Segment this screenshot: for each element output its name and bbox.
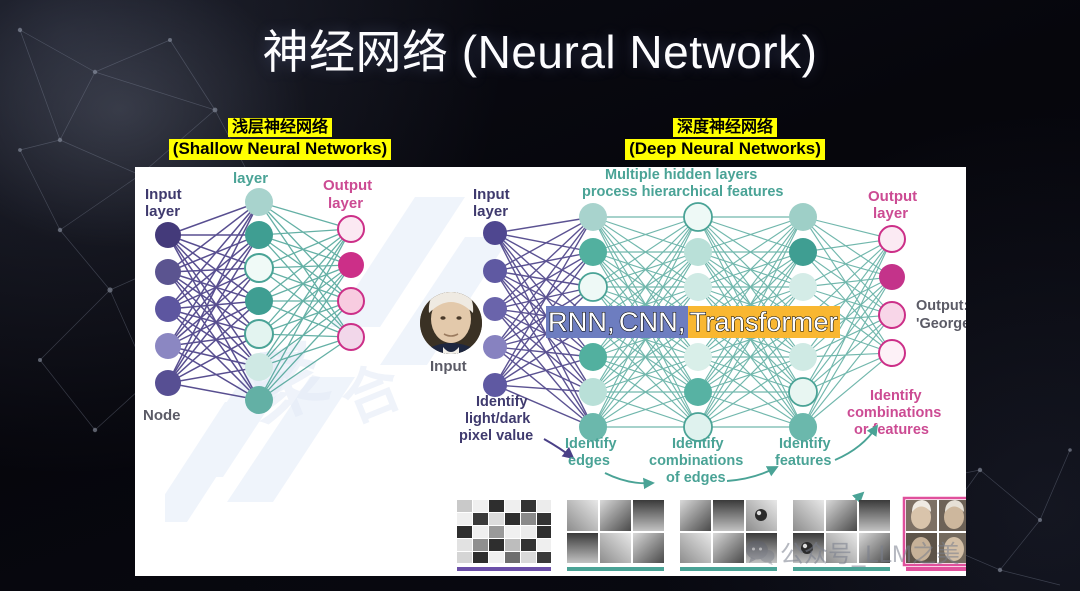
deep-pixel-label-line1: Identify [476, 394, 528, 410]
deep-stage2-line2: combinations [649, 453, 743, 469]
shallow-output-label-line2: layer [328, 195, 363, 212]
chat-bubble-icon [745, 539, 775, 565]
deep-output-text-line2: 'George' [916, 316, 966, 332]
deep-input-label-line2: layer [473, 203, 508, 220]
shallow-node-label: Node [143, 407, 181, 424]
overlay-cnn-label: CNN, [617, 306, 688, 338]
overlay-transformer-label: Transformer [688, 306, 840, 338]
deep-pixel-label-line2: light/dark [465, 411, 531, 427]
deep-stage1-line2: edges [568, 453, 610, 469]
underline-edge-patches [567, 567, 664, 571]
deep-header-line2: process hierarchical features [582, 184, 784, 200]
caption-deep-en: (Deep Neural Networks) [625, 139, 825, 159]
wechat-watermark-text: 公众号_LLM之美 [780, 534, 960, 569]
filmstrip-panel-edge-patches [567, 500, 664, 571]
diagram-card: 聚 合 .lbl{font-family:"Liberation Sans",s… [135, 167, 966, 576]
deep-stage1-line1: Identify [565, 436, 617, 452]
slide-title: 神经网络 (Neural Network) [0, 16, 1080, 82]
deep-stage3-line1: Identify [779, 436, 831, 452]
deep-stage2-line3: of edges [666, 470, 726, 486]
arrow-edges-to-combinations [605, 473, 653, 483]
overlay-rnn-label: RNN, [546, 306, 617, 338]
caption-deep-zh: 深度神经网络 [673, 118, 777, 137]
underline-pixel-grid [457, 567, 551, 571]
arrow-combinations-to-features [727, 467, 777, 481]
deep-stage4-line1: Identify [870, 388, 922, 404]
deep-output-text-line1: Output: [916, 298, 966, 314]
shallow-hidden-label-line1: Hidden [228, 167, 279, 169]
deep-header-line1: Multiple hidden layers [605, 167, 757, 183]
portrait-caption: Input [430, 358, 467, 375]
deep-input-label-line1: Input [473, 186, 510, 203]
neural-network-illustration: .lbl{font-family:"Liberation Sans",sans-… [135, 167, 966, 576]
caption-deep-neural-networks: 深度神经网络 (Deep Neural Networks) [600, 118, 850, 160]
filmstrip-panel-pixel-grid [457, 500, 551, 571]
shallow-hidden-label-line2: layer [233, 170, 268, 187]
shallow-input-label-line1: Input [145, 186, 182, 203]
deep-pixel-label-line3: pixel value [459, 428, 533, 444]
deep-stage4-line3: or features [854, 422, 929, 438]
model-type-overlay: RNN,CNN,Transformer [546, 307, 840, 338]
deep-stage4-line2: combinations [847, 405, 941, 421]
deep-output-label-line1: Output [868, 188, 917, 205]
shallow-input-label-line2: layer [145, 203, 180, 220]
caption-shallow-zh: 浅层神经网络 [228, 118, 332, 137]
caption-shallow-en: (Shallow Neural Networks) [169, 139, 391, 159]
deep-stage2-line1: Identify [672, 436, 724, 452]
deep-stage3-line2: features [775, 453, 831, 469]
deep-output-label-line2: layer [873, 205, 908, 222]
wechat-watermark: 公众号_LLM之美 [745, 534, 960, 569]
caption-shallow-neural-networks: 浅层神经网络 (Shallow Neural Networks) [150, 118, 410, 160]
shallow-output-label-line1: Output [323, 177, 372, 194]
